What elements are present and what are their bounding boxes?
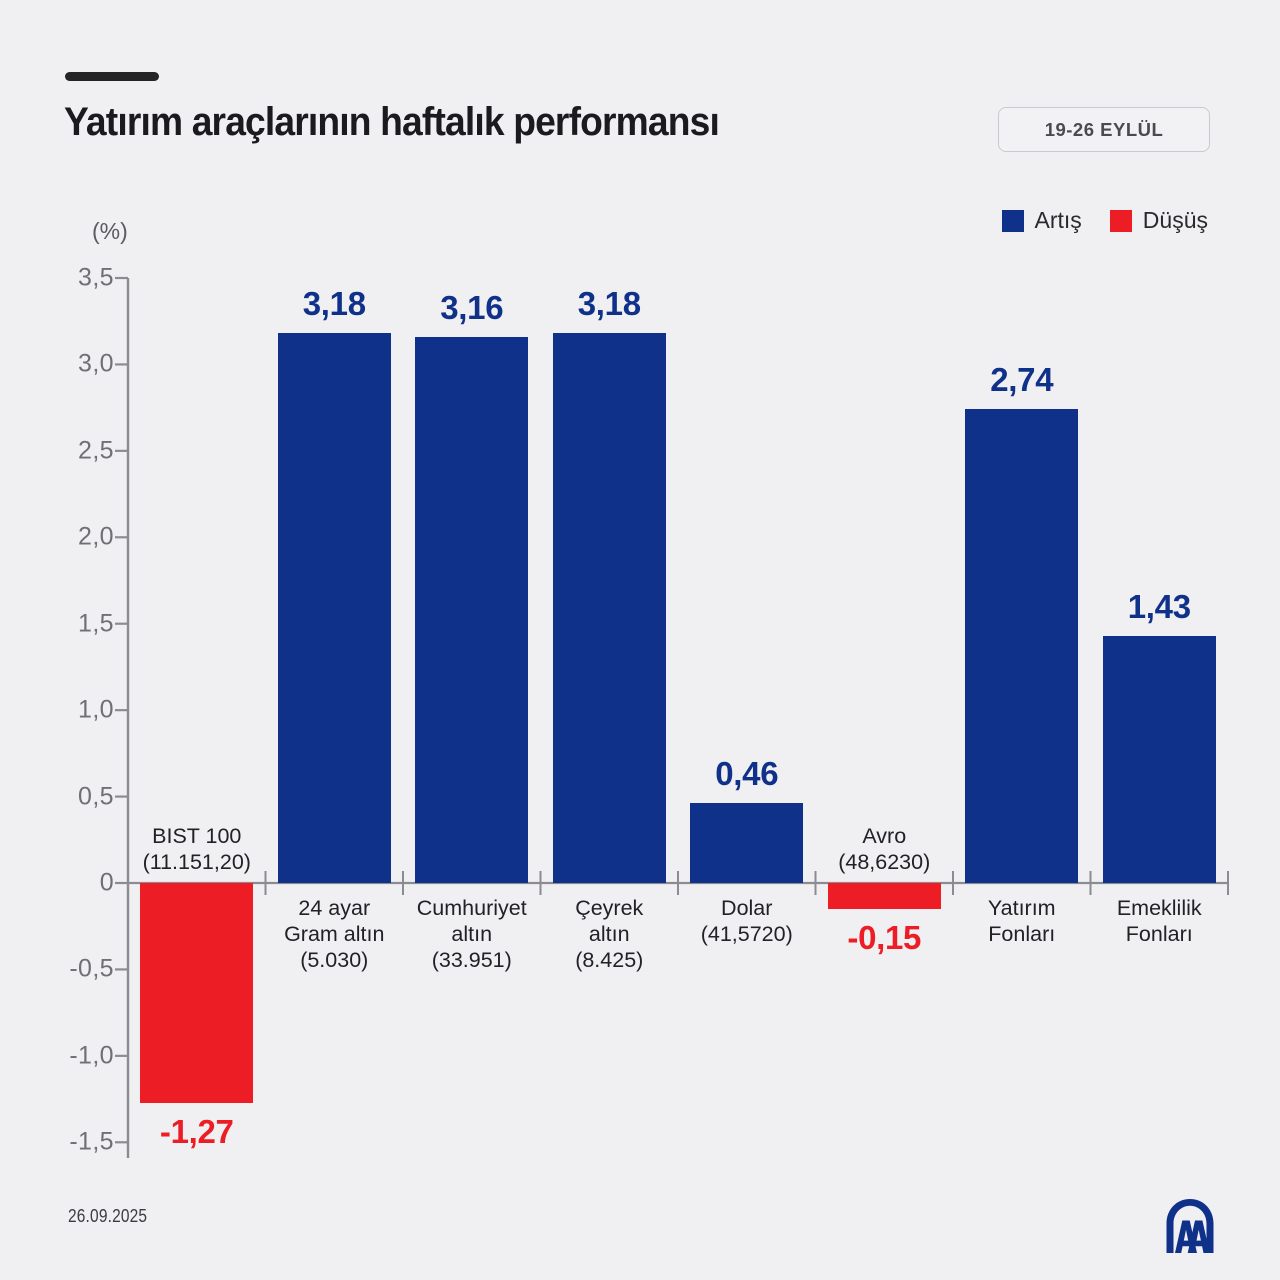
y-axis-tick-label: 3,0 [42, 350, 114, 379]
bar-value-label: 0,46 [657, 755, 837, 793]
y-axis-tick-label: 1,0 [42, 696, 114, 725]
chart-plot-area: 3,53,02,52,01,51,00,50-0,5-1,0-1,5-1,27B… [0, 0, 1280, 1280]
bar-8[interactable] [1103, 636, 1216, 883]
bar-value-label: 2,74 [932, 361, 1112, 399]
y-axis-tick-label: -1,5 [42, 1128, 114, 1157]
bar-2[interactable] [278, 333, 391, 883]
bar-value-label: 1,43 [1069, 588, 1249, 626]
bar-category-label: EmeklilikFonları [1029, 895, 1280, 947]
bar-value-label: 3,18 [519, 285, 699, 323]
y-axis-tick-label: 3,5 [42, 264, 114, 293]
infographic-page: Yatırım araçlarının haftalık performansı… [0, 0, 1280, 1280]
anadolu-agency-logo [1162, 1196, 1218, 1256]
bar-value-label: -1,27 [107, 1113, 287, 1151]
y-axis-tick-label: -0,5 [42, 955, 114, 984]
y-axis-tick-label: -1,0 [42, 1041, 114, 1070]
y-axis-tick-label: 2,5 [42, 436, 114, 465]
bar-4[interactable] [553, 333, 666, 883]
y-axis-tick-label: 2,0 [42, 523, 114, 552]
bar-3[interactable] [415, 337, 528, 883]
footer-date: 26.09.2025 [68, 1206, 147, 1227]
y-axis-tick-label: 1,5 [42, 609, 114, 638]
y-axis-tick-label: 0,5 [42, 782, 114, 811]
bar-7[interactable] [965, 409, 1078, 883]
